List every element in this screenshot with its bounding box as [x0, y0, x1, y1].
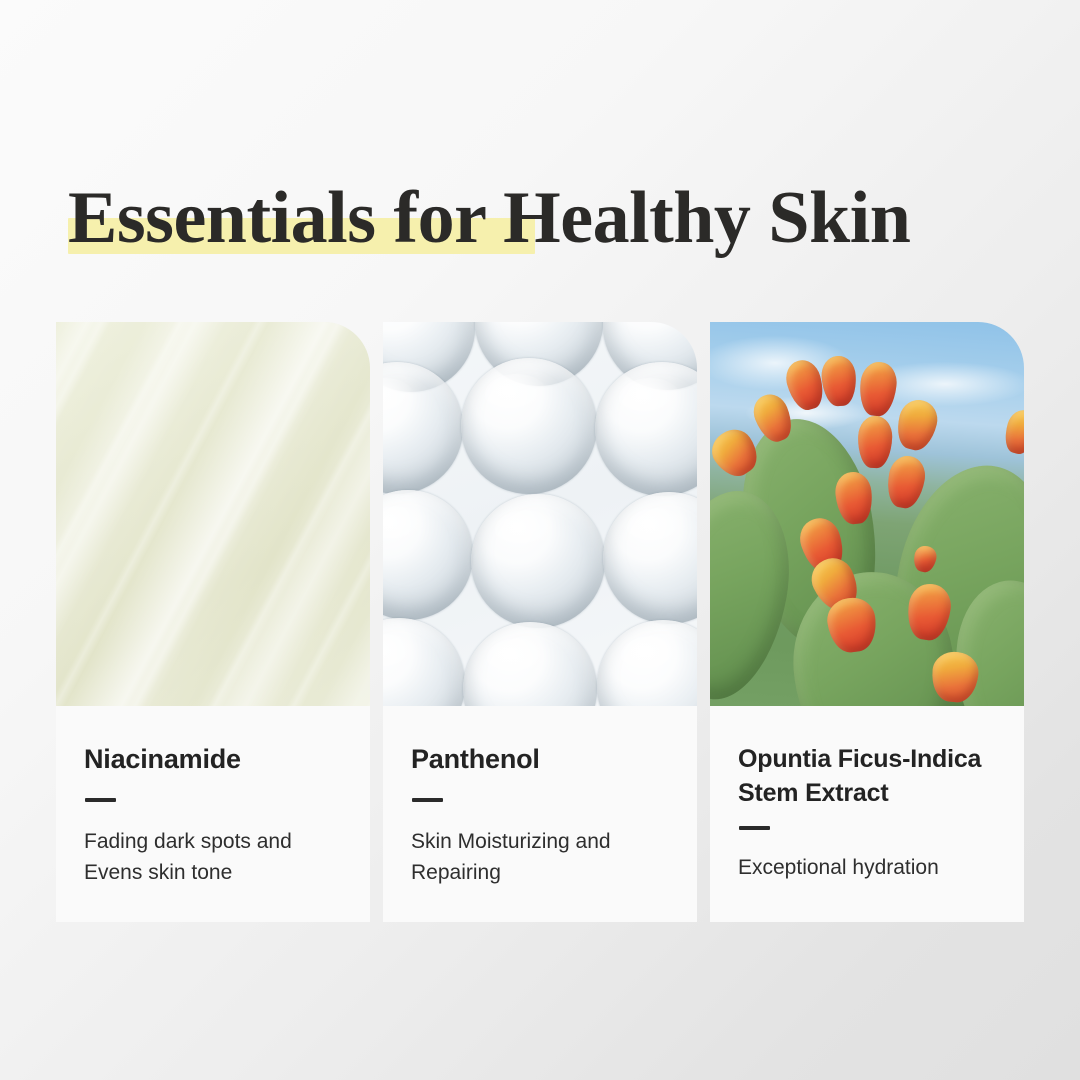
divider-dash	[85, 798, 116, 802]
title-block: Essentials for Healthy Skin	[68, 168, 1012, 268]
ingredient-card-body: Niacinamide Fading dark spots and Evens …	[56, 706, 370, 922]
ingredient-name: Opuntia Ficus-Indica Stem Extract	[738, 742, 996, 810]
ingredient-card-opuntia-ficus-indica[interactable]: Opuntia Ficus-Indica Stem Extract Except…	[710, 322, 1024, 922]
cream-texture-art	[56, 322, 370, 706]
ingredient-card-niacinamide[interactable]: Niacinamide Fading dark spots and Evens …	[56, 322, 370, 922]
page-title-highlighted-text: Essentials for	[68, 177, 485, 259]
ingredient-card-list: Niacinamide Fading dark spots and Evens …	[56, 322, 1024, 922]
ingredient-image-cactus	[710, 322, 1024, 706]
ingredient-benefit: Exceptional hydration	[738, 852, 996, 883]
ingredient-card-panthenol[interactable]: Panthenol Skin Moisturizing and Repairin…	[383, 322, 697, 922]
page-title: Essentials for Healthy Skin	[68, 168, 1028, 268]
bubbles-art	[383, 322, 697, 706]
page-title-rest-text: Healthy Skin	[485, 177, 910, 259]
ingredient-image-cream-texture	[56, 322, 370, 706]
divider-dash	[739, 826, 770, 830]
ingredient-image-bubbles	[383, 322, 697, 706]
ingredient-benefit: Fading dark spots and Evens skin tone	[84, 826, 342, 888]
ingredient-card-body: Panthenol Skin Moisturizing and Repairin…	[383, 706, 697, 922]
ingredient-card-body: Opuntia Ficus-Indica Stem Extract Except…	[710, 706, 1024, 922]
ingredient-name: Panthenol	[411, 742, 669, 776]
cactus-art	[710, 322, 1024, 706]
ingredient-name: Niacinamide	[84, 742, 342, 776]
infographic-page: Essentials for Healthy Skin Niacinamide …	[0, 0, 1080, 1080]
ingredient-benefit: Skin Moisturizing and Repairing	[411, 826, 669, 888]
divider-dash	[412, 798, 443, 802]
